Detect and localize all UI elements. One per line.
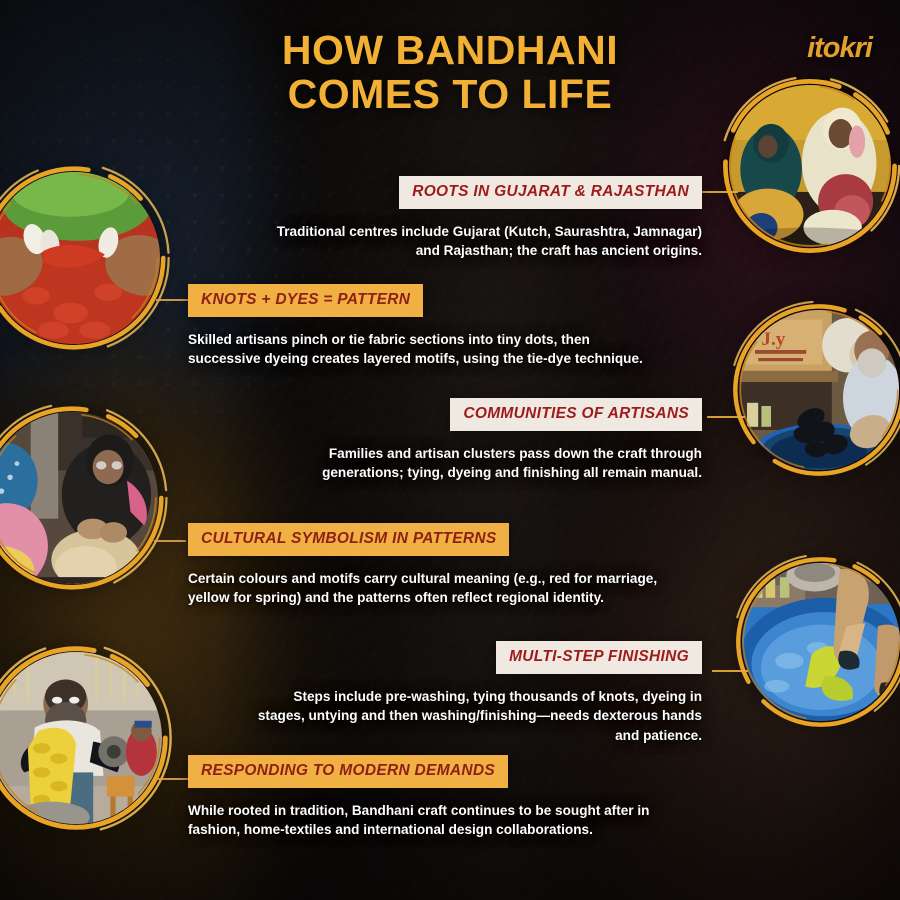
content-block-4: CULTURAL SYMBOLISM IN PATTERNS Certain c…	[188, 523, 658, 608]
badge-communities-of-artisans[interactable]: COMMUNITIES OF ARTISANS	[450, 398, 702, 431]
medallion-photo-women-tying-knots	[729, 85, 891, 247]
medallion-photo-blue-dye-bundles	[742, 563, 900, 721]
connector-stem-2	[156, 299, 188, 301]
infographic-poster: HOW BANDHANI COMES TO LIFE itokri	[0, 0, 900, 900]
svg-text:J.y: J.y	[761, 329, 785, 350]
content-block-1: ROOTS IN GUJARAT & RAJASTHAN Traditional…	[250, 176, 702, 261]
connector-stem-5	[712, 670, 748, 672]
medallion-photo-dyer-blue-vat: J.y	[739, 310, 899, 470]
photo-artisan-women-cluster	[0, 412, 158, 584]
connector-stem-1	[700, 191, 738, 193]
photo-hands-pinching-red	[0, 172, 160, 344]
photo-lifting-yellow-cloth	[0, 652, 162, 824]
medallion-photo-hands-pinching-red	[0, 172, 160, 344]
brand-logo-text: itokri	[807, 32, 872, 64]
badge-roots-in-gujarat-rajasthan[interactable]: ROOTS IN GUJARAT & RAJASTHAN	[399, 176, 702, 209]
medallion-photo-artisan-women-cluster	[0, 412, 158, 584]
title-line-1: HOW BANDHANI	[282, 27, 618, 73]
brand-logo[interactable]: itokri	[807, 32, 872, 65]
content-block-2: KNOTS + DYES = PATTERN Skilled artisans …	[188, 284, 658, 369]
content-block-6: RESPONDING TO MODERN DEMANDS While roote…	[188, 755, 658, 840]
badge-responding-to-modern-demands[interactable]: RESPONDING TO MODERN DEMANDS	[188, 755, 508, 788]
connector-stem-4	[154, 540, 186, 542]
body-text-1: Traditional centres include Gujarat (Kut…	[250, 222, 702, 261]
medallion-photo-lifting-yellow-cloth	[0, 652, 162, 824]
body-text-2: Skilled artisans pinch or tie fabric sec…	[188, 330, 658, 369]
body-text-6: While rooted in tradition, Bandhani craf…	[188, 801, 658, 840]
body-text-3: Families and artisan clusters pass down …	[250, 444, 702, 483]
connector-stem-3	[707, 416, 745, 418]
body-text-5: Steps include pre-washing, tying thousan…	[250, 687, 702, 745]
content-block-5: MULTI-STEP FINISHING Steps include pre-w…	[250, 641, 702, 745]
photo-dyer-blue-vat: J.y	[739, 310, 899, 470]
photo-blue-dye-bundles	[742, 563, 900, 721]
badge-multi-step-finishing[interactable]: MULTI-STEP FINISHING	[496, 641, 702, 674]
photo-women-tying-knots	[729, 85, 891, 247]
badge-cultural-symbolism-in-patterns[interactable]: CULTURAL SYMBOLISM IN PATTERNS	[188, 523, 509, 556]
connector-stem-6	[158, 778, 190, 780]
body-text-4: Certain colours and motifs carry cultura…	[188, 569, 658, 608]
badge-knots-dyes-pattern[interactable]: KNOTS + DYES = PATTERN	[188, 284, 423, 317]
content-block-3: COMMUNITIES OF ARTISANS Families and art…	[250, 398, 702, 483]
